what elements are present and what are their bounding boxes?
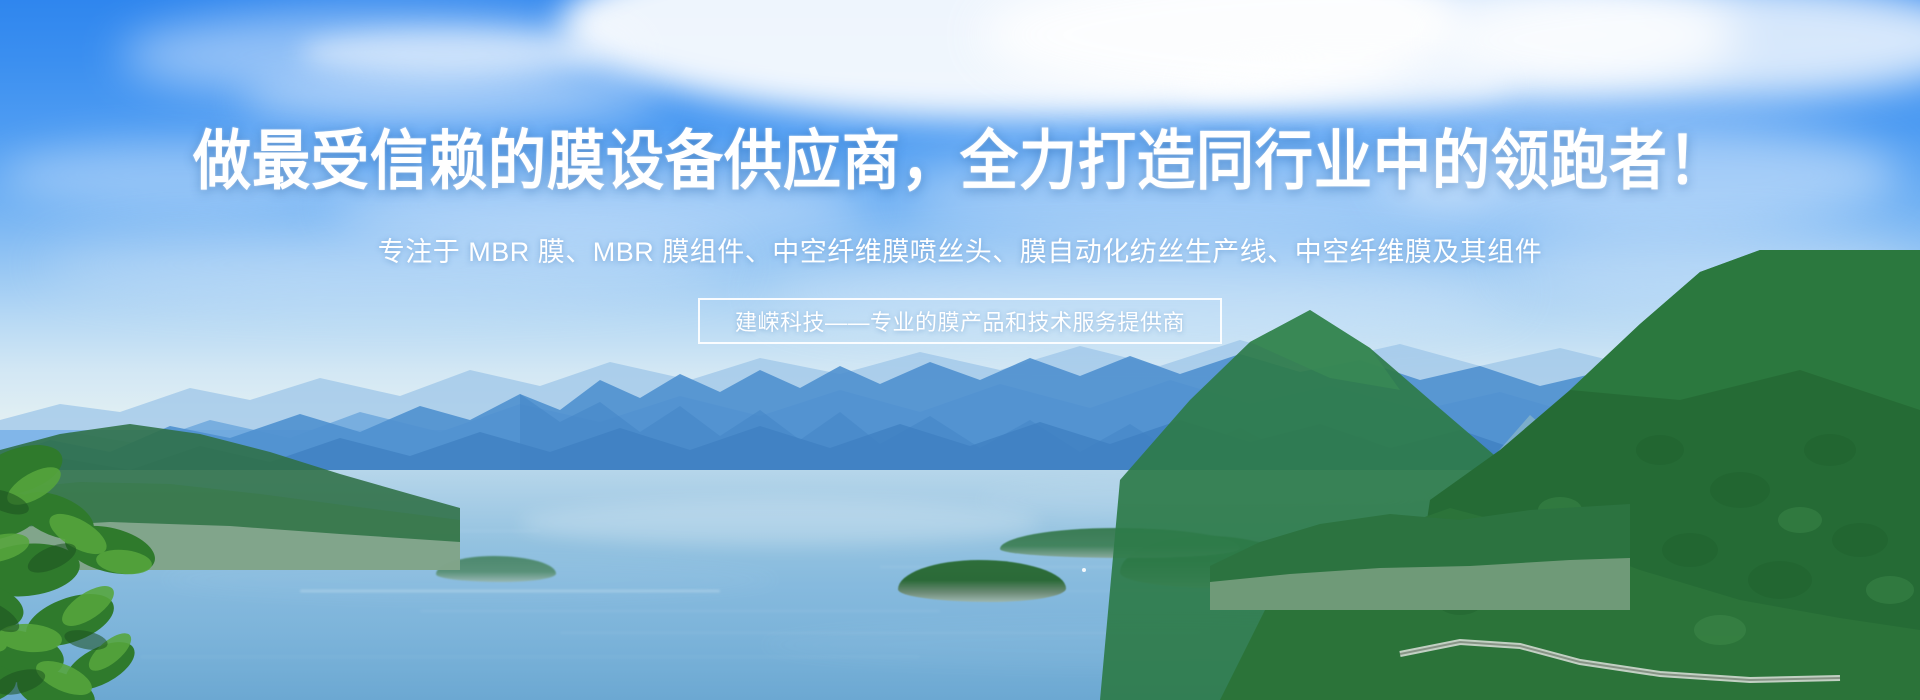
cloud-shape [0, 140, 360, 210]
boat-speck [1082, 568, 1086, 572]
banner-tagline-box[interactable]: 建嵘科技——专业的膜产品和技术服务提供商 [698, 298, 1222, 344]
cloud-shape [240, 70, 660, 130]
cloud-shape [1380, 120, 1900, 230]
shoreline-promontory [1210, 470, 1630, 610]
cloud-shape [40, 230, 740, 300]
cloud-shape [1180, 58, 1510, 110]
banner-tagline-text: 建嵘科技——专业的膜产品和技术服务提供商 [735, 305, 1185, 337]
hero-banner: 做最受信赖的膜设备供应商，全力打造同行业中的领跑者！ 专注于 MBR 膜、MBR… [0, 0, 1920, 700]
foreground-foliage-branch [0, 430, 300, 700]
cloud-shape [300, 30, 600, 74]
